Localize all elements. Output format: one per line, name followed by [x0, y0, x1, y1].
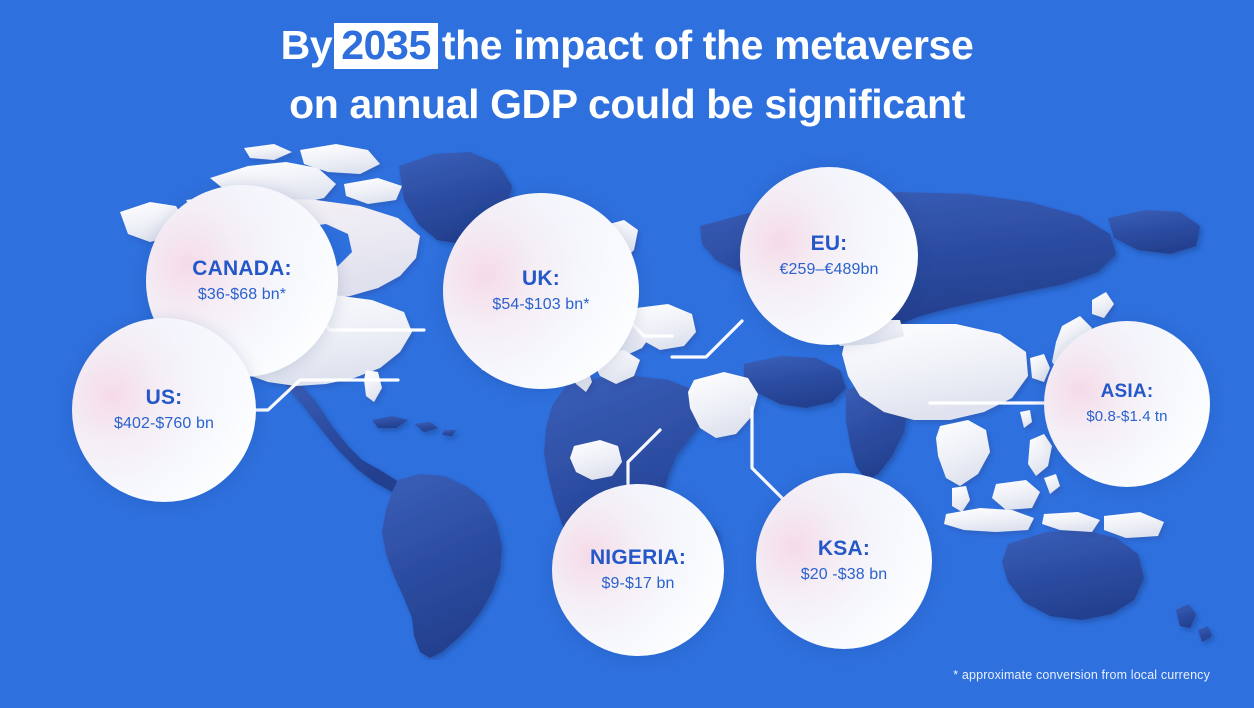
- bubble-ksa-label: KSA:: [818, 537, 870, 561]
- bubble-us-label: US:: [146, 386, 183, 410]
- bubble-eu-label: EU:: [811, 232, 848, 256]
- bubble-nigeria-value: $9-$17 bn: [602, 574, 675, 595]
- bubble-us[interactable]: US: $402-$760 bn: [72, 318, 256, 502]
- infographic-root: By2035the impact of the metaverse on ann…: [0, 0, 1254, 708]
- title-line-1: By2035the impact of the metaverse: [0, 16, 1254, 75]
- bubble-eu[interactable]: EU: €259–€489bn: [740, 167, 918, 345]
- title-line-2: on annual GDP could be significant: [0, 75, 1254, 134]
- bubble-eu-value: €259–€489bn: [780, 260, 879, 281]
- bubble-asia-value: $0.8-$1.4 tn: [1086, 407, 1167, 427]
- year-highlight: 2035: [334, 23, 438, 69]
- bubble-asia[interactable]: ASIA: $0.8-$1.4 tn: [1044, 321, 1210, 487]
- title-prefix: By: [281, 22, 333, 68]
- bubble-nigeria[interactable]: NIGERIA: $9-$17 bn: [552, 484, 724, 656]
- bubble-ksa[interactable]: KSA: $20 -$38 bn: [756, 473, 932, 649]
- bubble-uk[interactable]: UK: $54-$103 bn*: [443, 193, 639, 389]
- page-title: By2035the impact of the metaverse on ann…: [0, 16, 1254, 135]
- bubble-uk-value: $54-$103 bn*: [492, 295, 589, 316]
- bubble-nigeria-label: NIGERIA:: [590, 546, 686, 570]
- bubble-canada-label: CANADA:: [192, 257, 291, 281]
- bubble-us-value: $402-$760 bn: [114, 414, 214, 435]
- bubble-ksa-value: $20 -$38 bn: [801, 565, 888, 586]
- bubble-uk-label: UK:: [522, 267, 560, 291]
- bubble-asia-label: ASIA:: [1101, 381, 1154, 403]
- bubble-canada-value: $36-$68 bn*: [198, 285, 286, 306]
- footnote: * approximate conversion from local curr…: [953, 668, 1210, 682]
- title-suffix: the impact of the metaverse: [442, 22, 974, 68]
